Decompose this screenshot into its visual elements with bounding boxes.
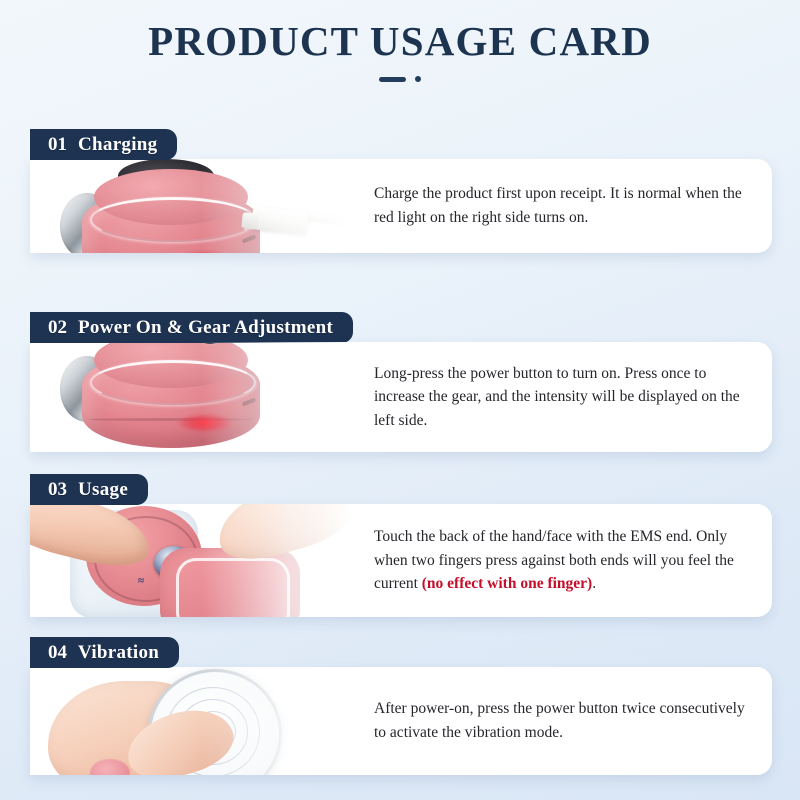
- device-dark-cap: [118, 159, 214, 193]
- charging-description: Charge the product first upon receipt. I…: [374, 182, 750, 229]
- section-charging: 01 Charging: [30, 129, 772, 253]
- vibration-ripple-icon: [178, 699, 248, 765]
- section-power-on: 02 Power On & Gear Adjustment: [30, 312, 772, 452]
- device-top-face: [94, 342, 248, 388]
- device-port-slot: [242, 398, 256, 407]
- device-dark-cap: [118, 342, 214, 356]
- device-chrome-ring: [90, 360, 256, 405]
- vibration-description: After power-on, press the power button t…: [374, 697, 750, 744]
- device-pink-back: [86, 506, 202, 606]
- device-top-face: [94, 169, 248, 225]
- device-chrome-clip: [60, 193, 114, 253]
- device-pink-edge: [90, 759, 130, 775]
- vibration-ripple-icon: [200, 721, 226, 743]
- finger-right: [210, 504, 358, 570]
- section-label: Vibration: [78, 643, 159, 662]
- device-back-ring: [94, 516, 198, 602]
- section-number: 02: [48, 318, 67, 337]
- ems-electrode-right-icon: [228, 544, 268, 578]
- section-label: Power On & Gear Adjustment: [78, 318, 333, 337]
- vibration-ripple-icon: [166, 687, 260, 775]
- device-body: [82, 189, 260, 253]
- section-card-vibration: After power-on, press the power button t…: [30, 667, 772, 775]
- current-spark-icon: ≈: [266, 570, 272, 581]
- ems-electrode-left-icon: [154, 546, 194, 580]
- power-on-description-area: Long-press the power button to turn on. …: [360, 342, 772, 452]
- device-clear-case: [70, 510, 198, 617]
- section-vibration: 04 Vibration After power-on, press the p…: [30, 637, 772, 775]
- section-card-charging: Charge the product first upon receipt. I…: [30, 159, 772, 253]
- section-label: Charging: [78, 135, 157, 154]
- usage-warning-accent: (no effect with one finger): [422, 575, 592, 592]
- red-charging-led-icon: [178, 251, 232, 253]
- section-tab-vibration[interactable]: 04 Vibration: [30, 637, 179, 668]
- usb-c-plug: [251, 206, 309, 235]
- section-tab-charging[interactable]: 01 Charging: [30, 129, 177, 160]
- usage-description: Touch the back of the hand/face with the…: [374, 525, 750, 596]
- pink-device-illustration: [82, 342, 260, 452]
- white-device-disc: [148, 669, 282, 775]
- finger-left: [30, 504, 157, 575]
- device-chrome-ring: [90, 197, 256, 242]
- section-card-power-on: Long-press the power button to turn on. …: [30, 342, 772, 452]
- red-indicator-led-icon: [178, 414, 232, 432]
- device-body: [82, 352, 260, 448]
- vibration-product-photo: [30, 667, 360, 775]
- page-title: PRODUCT USAGE CARD: [0, 18, 800, 65]
- ems-front-face: [160, 548, 300, 617]
- section-label: Usage: [78, 480, 128, 499]
- power-on-description: Long-press the power button to turn on. …: [374, 362, 750, 433]
- usb-c-plug-tip: [241, 212, 259, 230]
- ems-front-inner: [176, 558, 290, 617]
- divider-dot-icon: [415, 76, 421, 82]
- pink-device-illustration: [82, 167, 260, 253]
- vibration-ripple-icon: [190, 711, 236, 753]
- device-chrome-clip: [60, 356, 114, 422]
- charging-description-area: Charge the product first upon receipt. I…: [360, 159, 772, 253]
- section-tab-usage[interactable]: 03 Usage: [30, 474, 148, 505]
- device-port-slot: [242, 235, 256, 244]
- usage-product-photo: ≈ ≈: [30, 504, 360, 617]
- divider-dash-icon: [379, 77, 406, 82]
- section-tab-power-on[interactable]: 02 Power On & Gear Adjustment: [30, 312, 353, 343]
- page-header: PRODUCT USAGE CARD: [0, 18, 800, 82]
- section-number: 04: [48, 643, 67, 662]
- section-usage: 03 Usage ≈ ≈ Touch: [30, 474, 772, 617]
- device-seam-line: [88, 418, 254, 421]
- power-on-product-photo: [30, 342, 360, 452]
- thumb-illustration: [120, 699, 241, 775]
- current-spark-icon: ≈: [138, 576, 144, 587]
- usage-description-area: Touch the back of the hand/face with the…: [360, 504, 772, 617]
- section-card-usage: ≈ ≈ Touch the back of the hand/face with…: [30, 504, 772, 617]
- power-button-icon: [200, 342, 220, 344]
- product-usage-card-page: PRODUCT USAGE CARD 01 Charging: [0, 0, 800, 800]
- title-divider-ornament: [0, 76, 800, 82]
- usage-description-tail: .: [592, 575, 596, 592]
- usb-cable: [302, 208, 360, 235]
- section-number: 01: [48, 135, 67, 154]
- section-number: 03: [48, 480, 67, 499]
- charging-product-photo: [30, 159, 360, 253]
- vibration-description-area: After power-on, press the power button t…: [360, 667, 772, 775]
- hand-illustration: [48, 681, 216, 775]
